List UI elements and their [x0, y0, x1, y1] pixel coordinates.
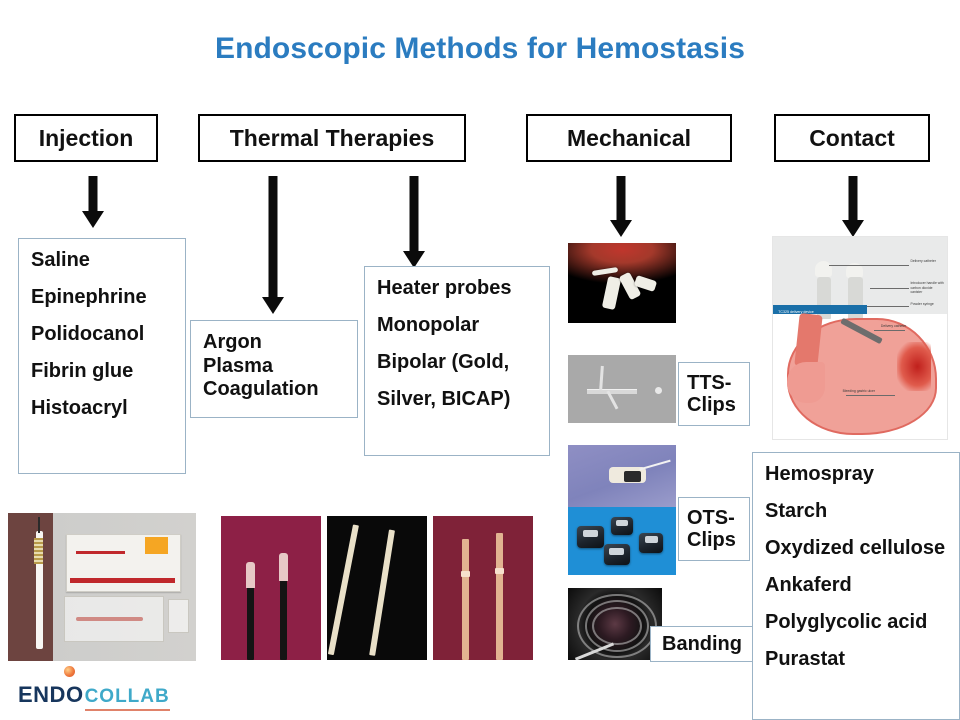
slide-canvas: Endoscopic Methods for Hemostasis Inject… [0, 0, 960, 720]
bipolar-probe-tips-photo [221, 516, 321, 660]
heater-probe-tips-photo [433, 516, 533, 660]
probe-line-2: Monopolar [377, 314, 537, 337]
hemostatic-powder-delivery-device-diagram: Delivery catheter Introducer handle with… [772, 236, 948, 440]
arrow-thermal-to-argon [258, 176, 288, 316]
category-header-mechanical[interactable]: Mechanical [526, 114, 732, 162]
probe-line-3: Bipolar (Gold, [377, 351, 537, 374]
arrow-thermal-to-probes [399, 176, 429, 270]
list-item: Histoacryl [31, 397, 173, 420]
logo-collab-wrap: COLLAB [85, 686, 170, 708]
logo-word-collab: COLLAB [85, 686, 170, 707]
list-item: Oxydized cellulose [765, 537, 947, 560]
list-item: Fibrin glue [31, 360, 173, 383]
diagram-label-delivery-catheter: Delivery catheter [910, 259, 935, 263]
apc-line-3: Coagulation [203, 378, 345, 402]
logo-dot-icon [64, 666, 75, 677]
through-the-scope-clip-device-photo [568, 355, 676, 423]
list-item: Starch [765, 500, 947, 523]
apc-line-1: Argon [203, 331, 345, 355]
arrow-injection-down [78, 176, 108, 228]
list-item: Epinephrine [31, 286, 173, 309]
apc-line-2: Plasma [203, 355, 345, 379]
category-header-thermal-therapies[interactable]: Thermal Therapies [198, 114, 466, 162]
ots-clips-line-2: Clips [687, 529, 736, 551]
injection-agents-list: Saline Epinephrine Polidocanol Fibrin gl… [18, 238, 186, 474]
arrow-contact-down [838, 176, 868, 238]
probe-line-4: Silver, BICAP) [377, 388, 537, 411]
list-item: Polyglycolic acid [765, 611, 947, 634]
category-header-contact[interactable]: Contact [774, 114, 930, 162]
over-the-scope-clips-photo [568, 507, 676, 575]
logo-word-endo: ENDO [18, 682, 84, 708]
heater-probe-shafts-photo [327, 516, 427, 660]
list-item: Saline [31, 249, 173, 272]
band-ligator-endoscopic-view-photo [568, 588, 662, 660]
diagram-label-powder-syringe: Powder syringe [910, 302, 933, 306]
list-item: Polidocanol [31, 323, 173, 346]
banding-label[interactable]: Banding [650, 626, 754, 662]
arrow-mechanical-down [606, 176, 636, 238]
contact-agents-list: Hemospray Starch Oxydized cellulose Anka… [752, 452, 960, 720]
endocollab-logo[interactable]: ENDO COLLAB [18, 682, 170, 708]
tts-clips-line-1: TTS- [687, 372, 731, 394]
category-header-injection[interactable]: Injection [14, 114, 158, 162]
endoscopic-clip-in-situ-photo [568, 243, 676, 323]
diagram-label-introducer-handle: Introducer handle with carbon dioxide ca… [910, 281, 945, 294]
banding-text: Banding [662, 633, 742, 655]
thermal-probes-box: Heater probes Monopolar Bipolar (Gold, S… [364, 266, 550, 456]
list-item: Purastat [765, 648, 947, 671]
list-item: Ankaferd [765, 574, 947, 597]
diagram-label-bleeding-ulcer: Bleeding gastric ulcer [843, 389, 875, 393]
page-title: Endoscopic Methods for Hemostasis [0, 32, 960, 66]
list-item: Hemospray [765, 463, 947, 486]
over-the-scope-clip-applicator-photo [568, 445, 676, 507]
injection-needle-kit-photo [8, 513, 196, 661]
diagram-label-delivery-catheter-tip: Delivery catheter [881, 324, 906, 328]
argon-plasma-coagulation-box: Argon Plasma Coagulation [190, 320, 358, 418]
ots-clips-label[interactable]: OTS- Clips [678, 497, 750, 561]
ots-clips-line-1: OTS- [687, 507, 735, 529]
probe-line-1: Heater probes [377, 277, 537, 300]
tts-clips-line-2: Clips [687, 394, 736, 416]
logo-underline [85, 709, 170, 711]
tts-clips-label[interactable]: TTS- Clips [678, 362, 750, 426]
